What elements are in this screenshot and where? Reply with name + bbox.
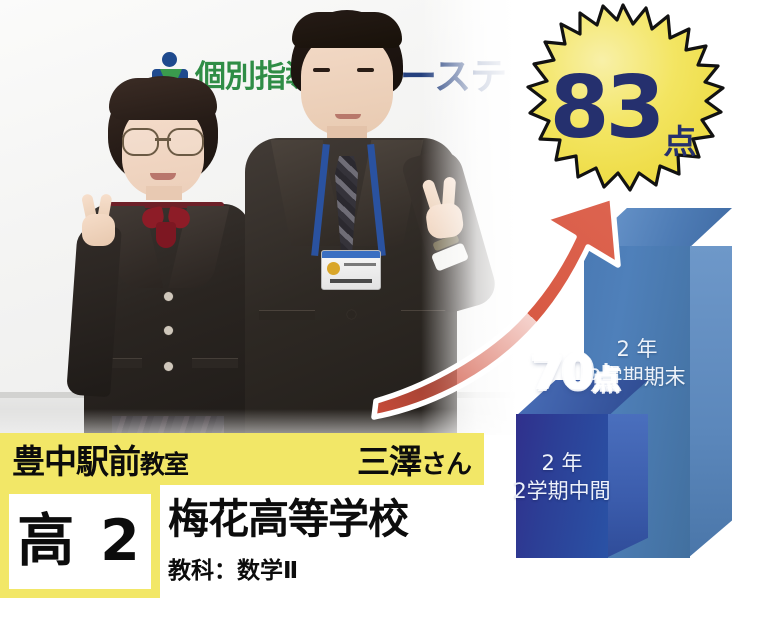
student-figure xyxy=(72,76,262,435)
growth-arrow-icon xyxy=(368,195,640,425)
caption-header-bar: 豊中駅前教室 三澤さん xyxy=(0,433,484,485)
result-card: 個別指導 フリーステ xyxy=(0,0,760,620)
badge-score-text: 83点 xyxy=(517,2,729,214)
grade-label: 高 2 xyxy=(17,513,143,570)
classroom-name: 豊中駅前教室 xyxy=(12,435,188,483)
subject-label: 教科：数学Ⅱ xyxy=(168,551,480,585)
peace-sign-hand-icon xyxy=(78,194,118,244)
caption-body: 高 2 梅花高等学校 教科：数学Ⅱ xyxy=(0,485,484,598)
school-info: 梅花高等学校 教科：数学Ⅱ xyxy=(168,485,480,598)
grade-frame: 高 2 xyxy=(0,485,160,598)
grade-box: 高 2 xyxy=(9,494,151,589)
bar-label-term-midterm: 2 年 2学期中間 xyxy=(510,450,614,505)
school-name: 梅花高等学校 xyxy=(168,498,480,541)
score-starburst-badge: 83点 xyxy=(517,2,729,214)
glasses-icon xyxy=(122,128,204,152)
ribbon-tie xyxy=(142,206,190,248)
student-name: 三澤さん xyxy=(357,435,471,483)
caption-block: 豊中駅前教室 三澤さん 高 2 梅花高等学校 教科：数学Ⅱ xyxy=(0,433,484,598)
